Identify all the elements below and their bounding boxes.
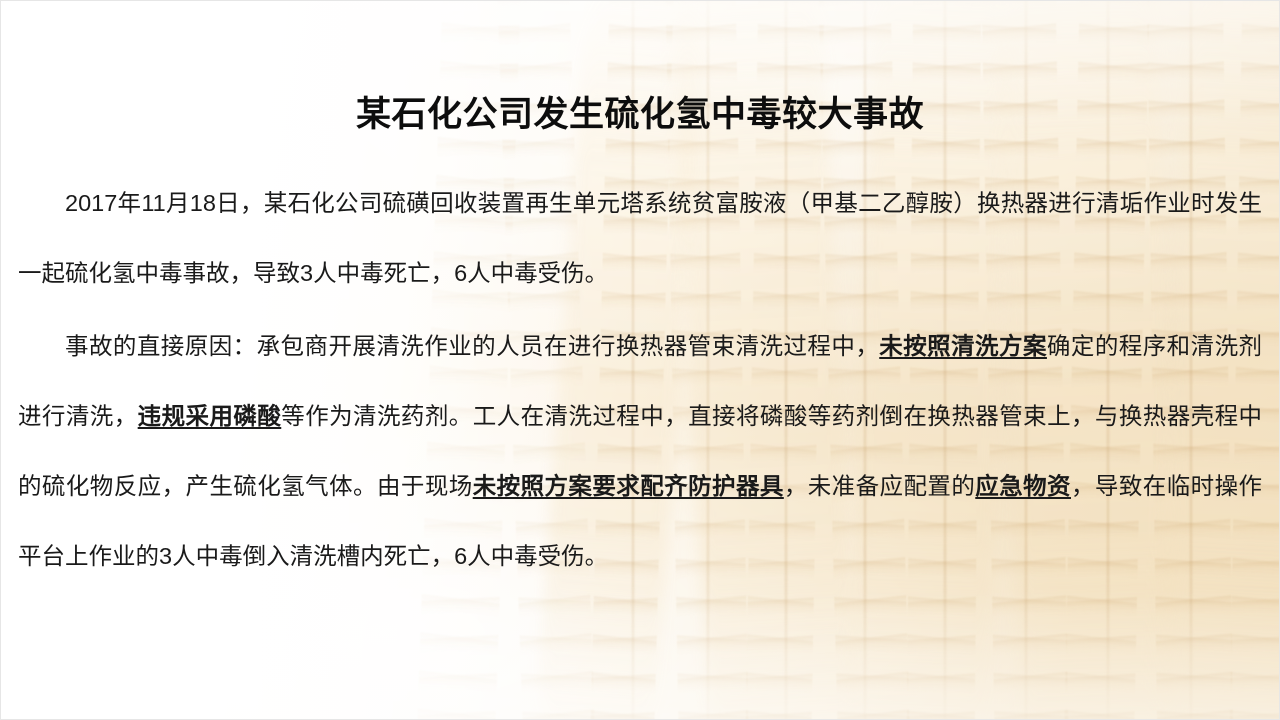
emphasized-text: 未按照清洗方案 [879,333,1047,359]
body-text: 事故的直接原因：承包商开展清洗作业的人员在进行换热器管束清洗过程中， [65,333,879,359]
emphasized-text: 违规采用磷酸 [138,403,282,429]
slide-title: 某石化公司发生硫化氢中毒较大事故 [0,86,1280,137]
presentation-slide: 某石化公司发生硫化氢中毒较大事故 2017年11月18日，某石化公司硫磺回收装置… [0,0,1280,720]
emphasized-text: 应急物资 [975,473,1071,499]
body-text: ，未准备应配置的 [784,473,975,499]
body-text: 2017年11月18日，某石化公司硫磺回收装置再生单元塔系统贫富胺液（甲基二乙醇… [18,190,1262,286]
emphasized-text: 未按照方案要求配齐防护器具 [473,473,784,499]
paragraph-direct-cause: 事故的直接原因：承包商开展清洗作业的人员在进行换热器管束清洗过程中，未按照清洗方… [18,311,1262,591]
paragraph-accident-summary: 2017年11月18日，某石化公司硫磺回收装置再生单元塔系统贫富胺液（甲基二乙醇… [18,168,1262,308]
slide-content: 某石化公司发生硫化氢中毒较大事故 2017年11月18日，某石化公司硫磺回收装置… [0,0,1280,720]
slide-body: 2017年11月18日，某石化公司硫磺回收装置再生单元塔系统贫富胺液（甲基二乙醇… [18,168,1262,591]
